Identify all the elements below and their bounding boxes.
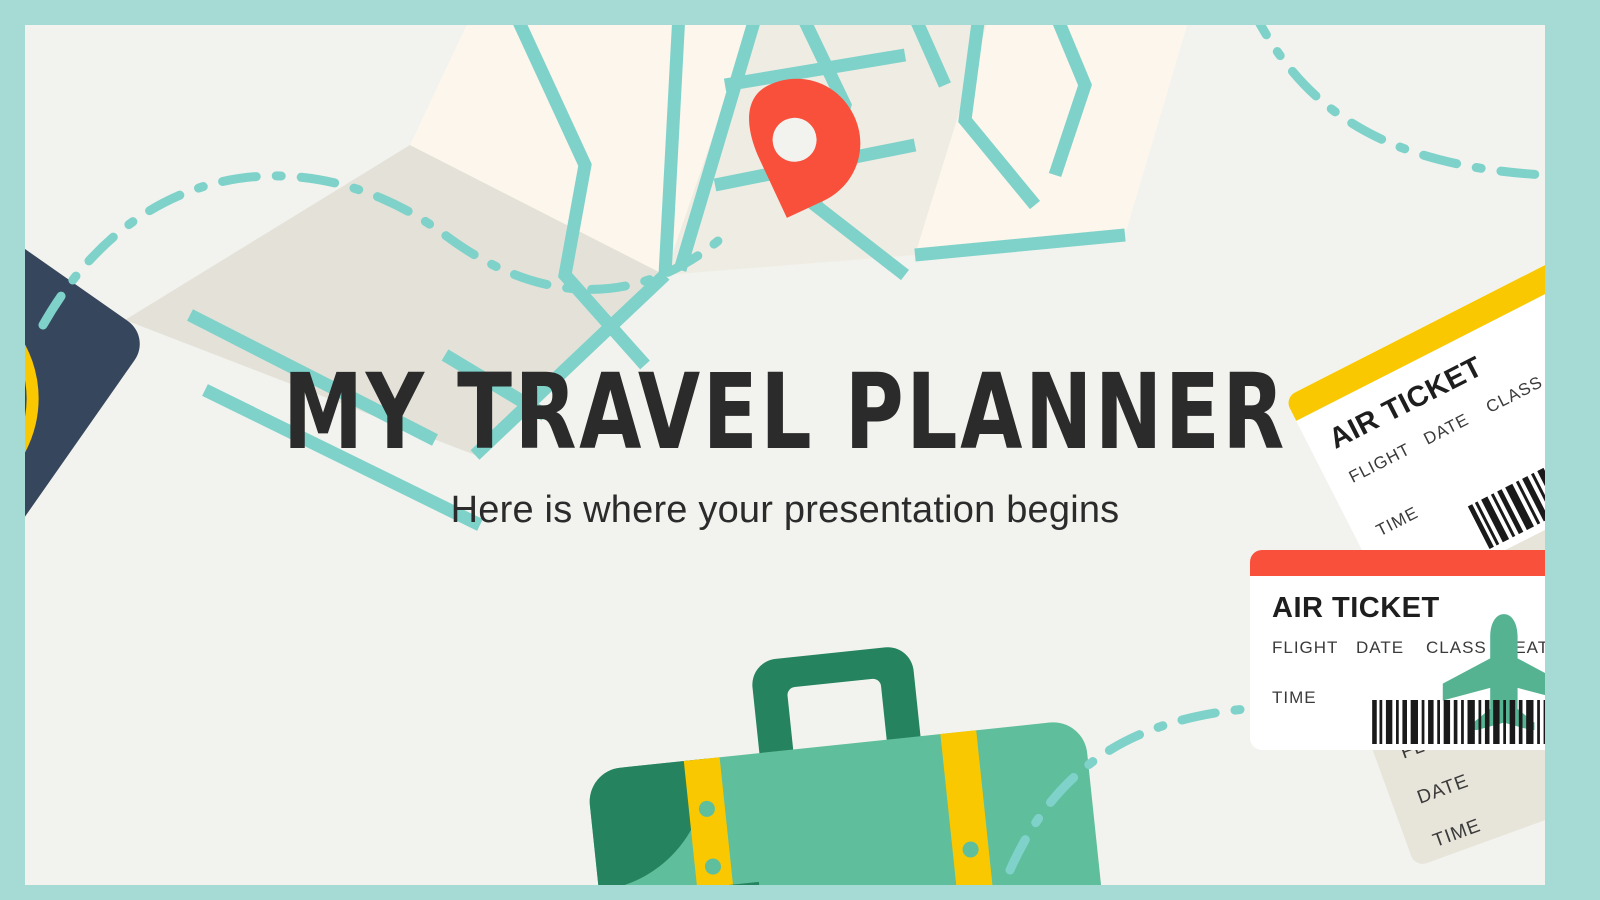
page-title: MY TRAVEL PLANNER xyxy=(131,360,1438,464)
slide-root: DATE TIME FLIGHT DATE TIME AIR TICKET FL… xyxy=(0,0,1600,900)
map-pin-icon xyxy=(702,33,912,243)
suitcase-illustration xyxy=(577,628,1115,885)
page-subtitle: Here is where your presentation begins xyxy=(25,490,1545,532)
suitcase-body xyxy=(586,719,1115,885)
ticket-red-heading: AIR TICKET xyxy=(1272,592,1440,625)
travel-path-top-right xyxy=(1250,25,1545,175)
travel-path-left xyxy=(43,176,725,325)
suitcase-handle xyxy=(750,645,924,783)
ticket-red-color-bar xyxy=(1250,550,1545,576)
ticket-beige-field-time-2: TIME xyxy=(1430,815,1484,853)
title-block: MY TRAVEL PLANNER Here is where your pre… xyxy=(25,360,1545,532)
map-panel-right xyxy=(665,25,1005,275)
suitcase-straps xyxy=(657,728,1034,885)
ticket-red-field-time: TIME xyxy=(1272,688,1317,708)
ticket-red-field-flight: FLIGHT xyxy=(1272,638,1338,658)
slide-canvas: DATE TIME FLIGHT DATE TIME AIR TICKET FL… xyxy=(25,25,1545,885)
suitcase-corner-left xyxy=(586,759,718,885)
barcode-red-ticket xyxy=(1362,700,1545,744)
ticket-red-field-date: DATE xyxy=(1356,638,1404,658)
map-panel-center xyxy=(410,25,765,275)
map-panel-far-right xyxy=(915,25,1205,255)
ticket-beige-field-date-2: DATE xyxy=(1414,771,1472,810)
ticket-red: AIR TICKET FLIGHT DATE CLASS SEAT TIME xyxy=(1250,550,1545,750)
